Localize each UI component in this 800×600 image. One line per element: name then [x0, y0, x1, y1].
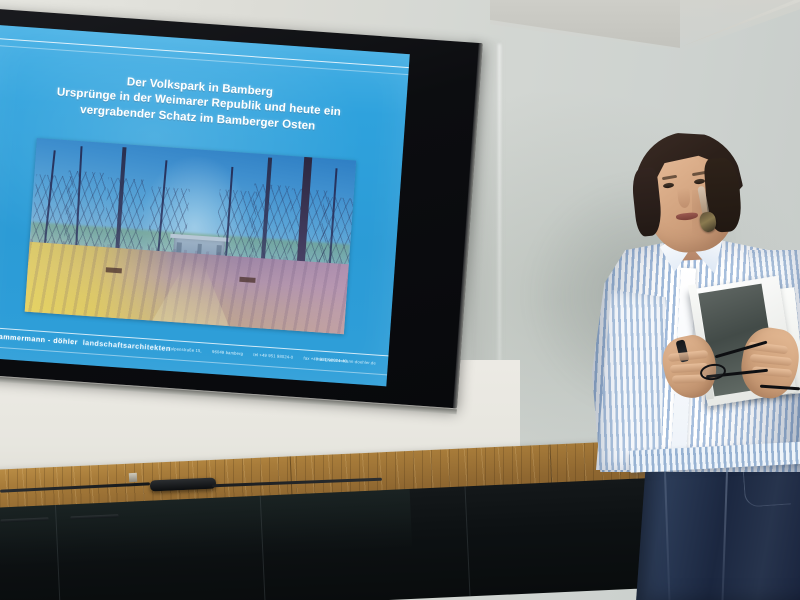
photo-scene: Der Volkspark in Bamberg Ursprünge in de…: [0, 0, 800, 600]
jeans-pocket: [743, 468, 791, 507]
presenter: [0, 0, 800, 600]
